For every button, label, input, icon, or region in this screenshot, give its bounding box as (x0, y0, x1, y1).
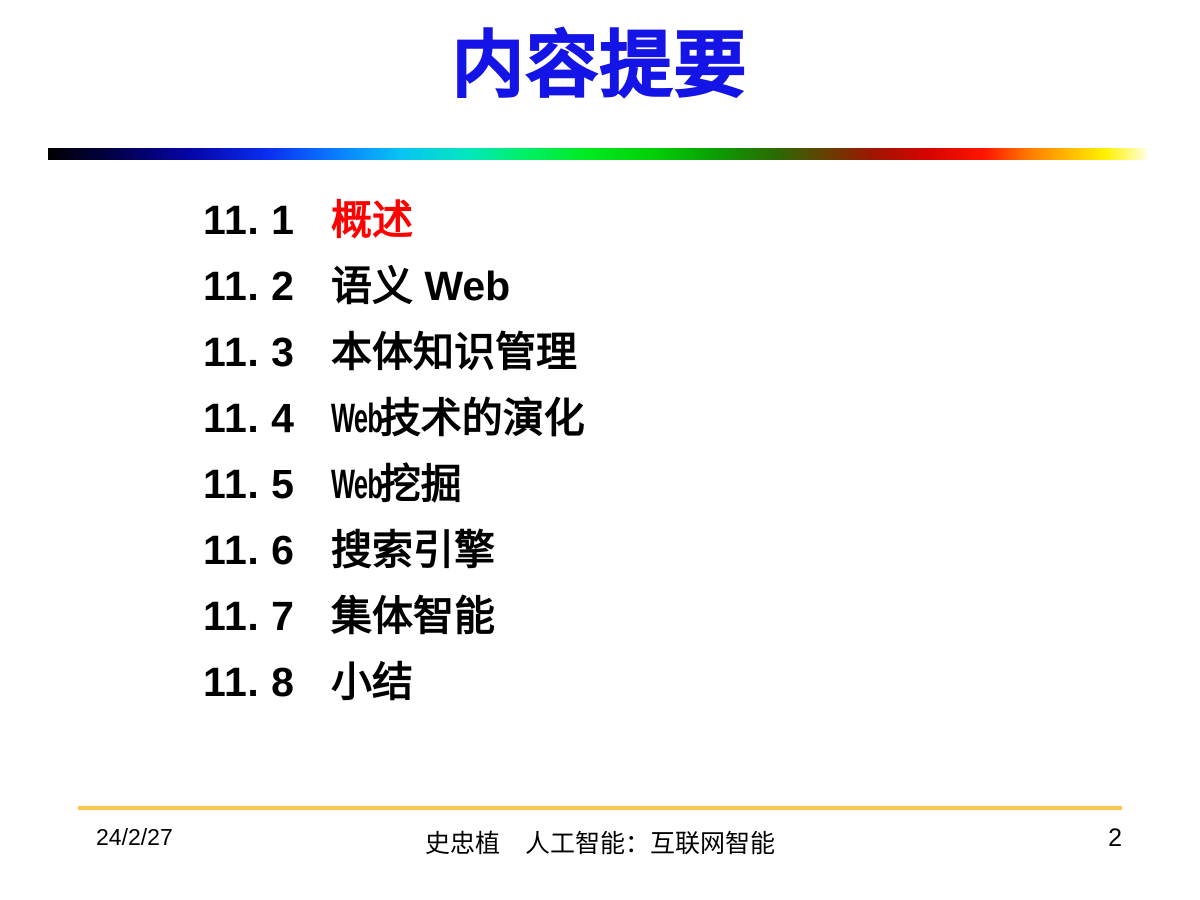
outline-item-label: 小结 (331, 648, 413, 708)
outline-item-label: 本体知识管理 (331, 318, 577, 378)
outline-item-11-3[interactable]: 11. 3 本体知识管理 (0, 318, 1200, 384)
slide-footer: 24/2/27 史忠植 人工智能：互联网智能 2 (0, 824, 1200, 868)
slide-title-text: 内容提要 (452, 26, 748, 106)
outline-item-tail: 挖掘 (380, 461, 462, 507)
outline-item-11-7[interactable]: 11. 7 集体智能 (0, 582, 1200, 648)
outline-item-label: Web技术的演化 (331, 384, 585, 444)
outline-list: 11. 1 概述 11. 2 语义 Web 11. 3 本体知识管理 11. 4… (0, 186, 1200, 714)
outline-item-label: 概述 (331, 186, 413, 246)
outline-item-11-5[interactable]: 11. 5 Web挖掘 (0, 450, 1200, 516)
outline-item-number: 11. 2 (203, 263, 331, 310)
outline-item-number: 11. 8 (203, 659, 331, 706)
outline-item-label: 搜索引擎 (331, 516, 495, 576)
outline-item-11-6[interactable]: 11. 6 搜索引擎 (0, 516, 1200, 582)
outline-item-11-1[interactable]: 11. 1 概述 (0, 186, 1200, 252)
slide-canvas: 内容提要 内容提要 11. 1 概述 11. 2 语义 Web 11. 3 本体… (0, 0, 1200, 900)
outline-item-number: 11. 7 (203, 593, 331, 640)
outline-item-label: Web挖掘 (331, 450, 462, 510)
spectrum-divider (48, 148, 1150, 160)
outline-item-number: 11. 3 (203, 329, 331, 376)
footer-page-number: 2 (1108, 824, 1122, 853)
outline-item-number: 11. 1 (203, 197, 331, 244)
outline-item-latin: Web (331, 461, 382, 508)
outline-item-label: 语义 Web (331, 252, 510, 312)
footer-attribution: 史忠植 人工智能：互联网智能 (0, 824, 1200, 860)
outline-item-tail: 技术的演化 (380, 395, 585, 441)
outline-item-label: 集体智能 (331, 582, 495, 642)
outline-item-number: 11. 4 (203, 395, 331, 442)
outline-item-number: 11. 6 (203, 527, 331, 574)
outline-item-11-4[interactable]: 11. 4 Web技术的演化 (0, 384, 1200, 450)
slide-title: 内容提要 内容提要 (0, 30, 1200, 102)
outline-item-latin: Web (331, 395, 382, 442)
outline-item-11-2[interactable]: 11. 2 语义 Web (0, 252, 1200, 318)
outline-item-11-8[interactable]: 11. 8 小结 (0, 648, 1200, 714)
footer-divider (78, 806, 1122, 810)
outline-item-number: 11. 5 (203, 461, 331, 508)
